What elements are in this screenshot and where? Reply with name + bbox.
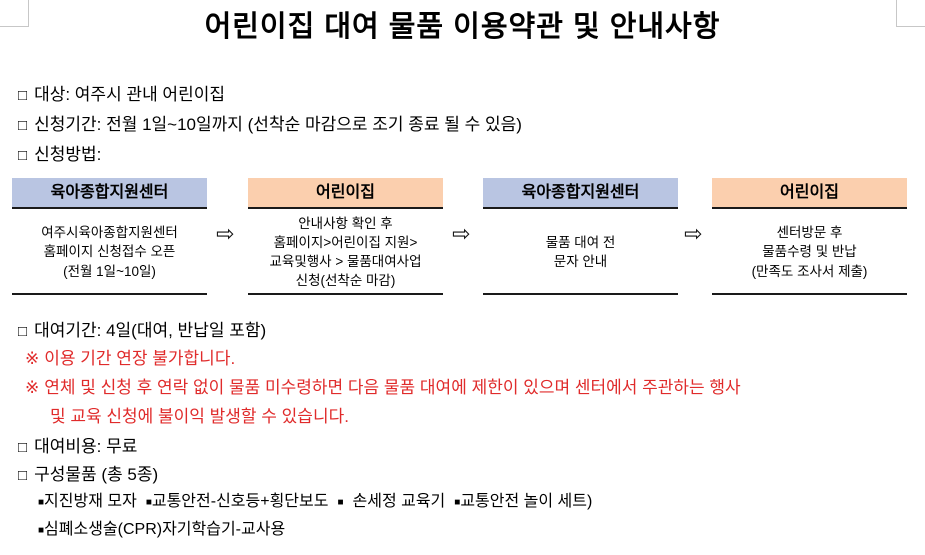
component-item-5: 심폐소생술(CPR)자기학습기-교사용 [44,521,285,538]
list-item-label: 신청방법: [34,146,101,163]
list-item-label: 대여비용: 무료 [34,438,137,455]
list-item-application-method: □ 신청방법: [0,146,925,163]
page-title: 어린이집 대여 물품 이용약관 및 안내사항 [0,0,925,45]
checkbox-icon: □ [18,118,27,133]
flow-step-3: 육아종합지원센터 물품 대여 전 문자 안내 [483,178,678,295]
component-item-1: 지진방재 모자 [44,493,137,510]
list-item-rental-period: □ 대여기간: 4일(대여, 반납일 포함) [0,322,925,339]
list-item-target: □ 대상: 여주시 관내 어린이집 [0,86,925,103]
component-items-row-1: ■지진방재 모자■교통안전-신호등+횡단보도■손세정 교육기■교통안전 놀이 세… [0,494,925,510]
component-item-4: 교통안전 놀이 세트) [460,493,592,510]
note-mark-icon: ※ [25,378,39,397]
list-item-label: 구성물품 (총 5종) [34,466,158,483]
note-penalty: ※연체 및 신청 후 연락 없이 물품 미수령하면 다음 물품 대여에 제한이 … [0,379,925,396]
component-item-3: 손세정 교육기 [353,493,446,510]
flow-step-2-line-2: 홈페이지>어린이집 지원> [248,233,443,252]
flow-step-1-line-2: 홈페이지 신청접수 오픈 [12,242,207,261]
note-text: 이용 기간 연장 불가합니다. [44,349,235,368]
flow-step-1-line-3: (전월 1일~10일) [12,262,207,281]
note-text: 연체 및 신청 후 연락 없이 물품 미수령하면 다음 물품 대여에 제한이 있… [44,378,740,397]
checkbox-icon: □ [18,324,27,339]
list-item-components-heading: □ 구성물품 (총 5종) [0,466,925,483]
flow-step-4-body: 센터방문 후 물품수령 및 반납 (만족도 조사서 제출) [712,209,907,295]
flow-step-2-header: 어린이집 [248,178,443,209]
flow-step-4-line-3: (만족도 조사서 제출) [712,262,907,281]
list-item-rental-cost: □ 대여비용: 무료 [0,438,925,455]
list-item-label: 신청기간: 전월 1일~10일까지 (선착순 마감으로 조기 종료 될 수 있음… [34,116,522,133]
flow-step-2: 어린이집 안내사항 확인 후 홈페이지>어린이집 지원> 교육및행사 > 물품대… [248,178,443,295]
component-item-2: 교통안전-신호등+횡단보도 [152,493,329,510]
flow-step-4: 어린이집 센터방문 후 물품수령 및 반납 (만족도 조사서 제출) [712,178,907,295]
checkbox-icon: □ [18,88,27,103]
list-item-label: 대상: 여주시 관내 어린이집 [34,86,225,103]
checkbox-icon: □ [18,148,27,163]
flow-step-4-header: 어린이집 [712,178,907,209]
flow-arrow-2-icon: ⇨ [452,223,470,245]
flow-step-3-line-2: 문자 안내 [483,252,678,271]
flow-step-1: 육아종합지원센터 여주시육아종합지원센터 홈페이지 신청접수 오픈 (전월 1일… [12,178,207,295]
application-flow-diagram: 육아종합지원센터 여주시육아종합지원센터 홈페이지 신청접수 오픈 (전월 1일… [0,178,925,308]
flow-step-1-body: 여주시육아종합지원센터 홈페이지 신청접수 오픈 (전월 1일~10일) [12,209,207,295]
flow-step-4-line-2: 물품수령 및 반납 [712,242,907,261]
top-info-list: □ 대상: 여주시 관내 어린이집 □ 신청기간: 전월 1일~10일까지 (선… [0,86,925,176]
checkbox-icon: □ [18,440,27,455]
flow-arrow-3-icon: ⇨ [684,223,702,245]
flow-step-2-body: 안내사항 확인 후 홈페이지>어린이집 지원> 교육및행사 > 물품대여사업 신… [248,209,443,295]
flow-step-3-line-1: 물품 대여 전 [483,233,678,252]
note-penalty-continuation: 및 교육 신청에 불이익 발생할 수 있습니다. [0,408,925,425]
flow-step-1-line-1: 여주시육아종합지원센터 [12,223,207,242]
flow-step-2-line-3: 교육및행사 > 물품대여사업 [248,252,443,271]
flow-step-3-header: 육아종합지원센터 [483,178,678,209]
note-mark-icon: ※ [25,349,39,368]
note-no-extension: ※이용 기간 연장 불가합니다. [0,350,925,367]
list-item-application-period: □ 신청기간: 전월 1일~10일까지 (선착순 마감으로 조기 종료 될 수 … [0,116,925,133]
bottom-info-list: □ 대여기간: 4일(대여, 반납일 포함) ※이용 기간 연장 불가합니다. … [0,322,925,550]
flow-step-2-line-1: 안내사항 확인 후 [248,214,443,233]
flow-step-2-line-4: 신청(선착순 마감) [248,271,443,290]
checkbox-icon: □ [18,468,27,483]
list-item-label: 대여기간: 4일(대여, 반납일 포함) [34,322,266,339]
flow-step-4-line-1: 센터방문 후 [712,223,907,242]
component-items-row-2: ■심폐소생술(CPR)자기학습기-교사용 [0,522,925,538]
flow-arrow-1-icon: ⇨ [216,223,234,245]
square-bullet-icon: ■ [337,497,343,508]
flow-step-1-header: 육아종합지원센터 [12,178,207,209]
flow-step-3-body: 물품 대여 전 문자 안내 [483,209,678,295]
